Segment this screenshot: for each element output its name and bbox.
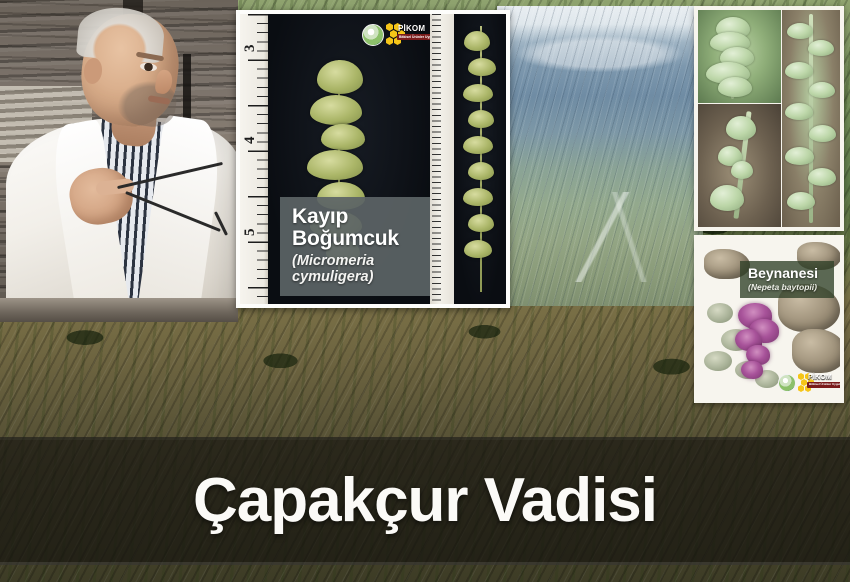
researcher-portrait-photo: [0, 0, 238, 322]
honeycomb-icon: PİKOM Bitkisel Ürünler Uygulama ve Araşt…: [798, 373, 828, 393]
specimen-caption-box: Kayıp Boğumcuk (Micromeria cymuligera): [280, 197, 430, 296]
ruler-number-4: 4: [242, 137, 259, 145]
portrait-counter-surface: [0, 298, 238, 322]
globe-icon: [362, 24, 384, 46]
ruler-strip-right: [430, 14, 454, 304]
plant-detail-grid: [698, 10, 840, 227]
valley-aerial-photo: [497, 6, 703, 306]
poster-canvas: 3 4 5 PİKOM: [0, 0, 850, 582]
specimen-photo-inner: 3 4 5 PİKOM: [240, 14, 506, 304]
beynanesi-scientific-name: (Nepeta baytopii): [748, 282, 827, 292]
beynanesi-common-name: Beynanesi: [748, 266, 827, 281]
pikom-logo-secondary: PİKOM Bitkisel Ürünler Uygulama ve Araşt…: [778, 372, 834, 394]
ruler-number-5: 5: [242, 229, 259, 237]
specimen-main-plant-photo: PİKOM Bitkisel Ürünler Uygulama ve Araşt…: [268, 14, 430, 304]
ruler-number-3: 3: [242, 45, 259, 53]
pikom-logo-subtitle: Bitkisel Ürünler Uygulama ve Araştırma: [397, 34, 430, 40]
specimen-secondary-plant-photo: [454, 14, 506, 304]
plant-photo-leaf-detail-bottom-left: [698, 104, 781, 227]
specimen-scientific-name: (Micromeria cymuligera): [292, 253, 430, 285]
globe-icon: [778, 374, 796, 392]
plant-photo-stem-right: [782, 10, 840, 227]
pikom-logo: PİKOM Bitkisel Ürünler Uygulama ve Araşt…: [362, 22, 420, 48]
specimen-photo-panel: 3 4 5 PİKOM: [236, 10, 510, 308]
ruler-strip-ticks: [430, 14, 454, 304]
plant-photo-closeup-top-left: [698, 10, 781, 103]
pikom-logo-text: PİKOM: [808, 374, 832, 381]
plant-detail-photo-panel: [694, 6, 844, 231]
specimen-common-name: Kayıp Boğumcuk: [292, 206, 430, 250]
ruler-left: 3 4 5: [240, 14, 268, 304]
portrait-eyeglasses: [112, 170, 222, 256]
title-band: Çapakçur Vadisi: [0, 437, 850, 565]
pikom-logo-text: PİKOM: [398, 24, 425, 33]
beynanesi-photo-panel: Beynanesi (Nepeta baytopii) PİKOM Bitkis…: [694, 235, 844, 403]
title-band-bottom-edge: [0, 562, 850, 565]
ruler-major-ticks: [240, 14, 268, 304]
beynanesi-photo: Beynanesi (Nepeta baytopii) PİKOM Bitkis…: [698, 239, 840, 399]
honeycomb-icon: PİKOM Bitkisel Ürünler Uygulama ve Araşt…: [386, 23, 420, 47]
pikom-logo-subtitle: Bitkisel Ürünler Uygulama ve Araştırma: [807, 382, 840, 388]
poster-title: Çapakçur Vadisi: [193, 470, 657, 532]
beynanesi-caption-box: Beynanesi (Nepeta baytopii): [740, 261, 834, 298]
